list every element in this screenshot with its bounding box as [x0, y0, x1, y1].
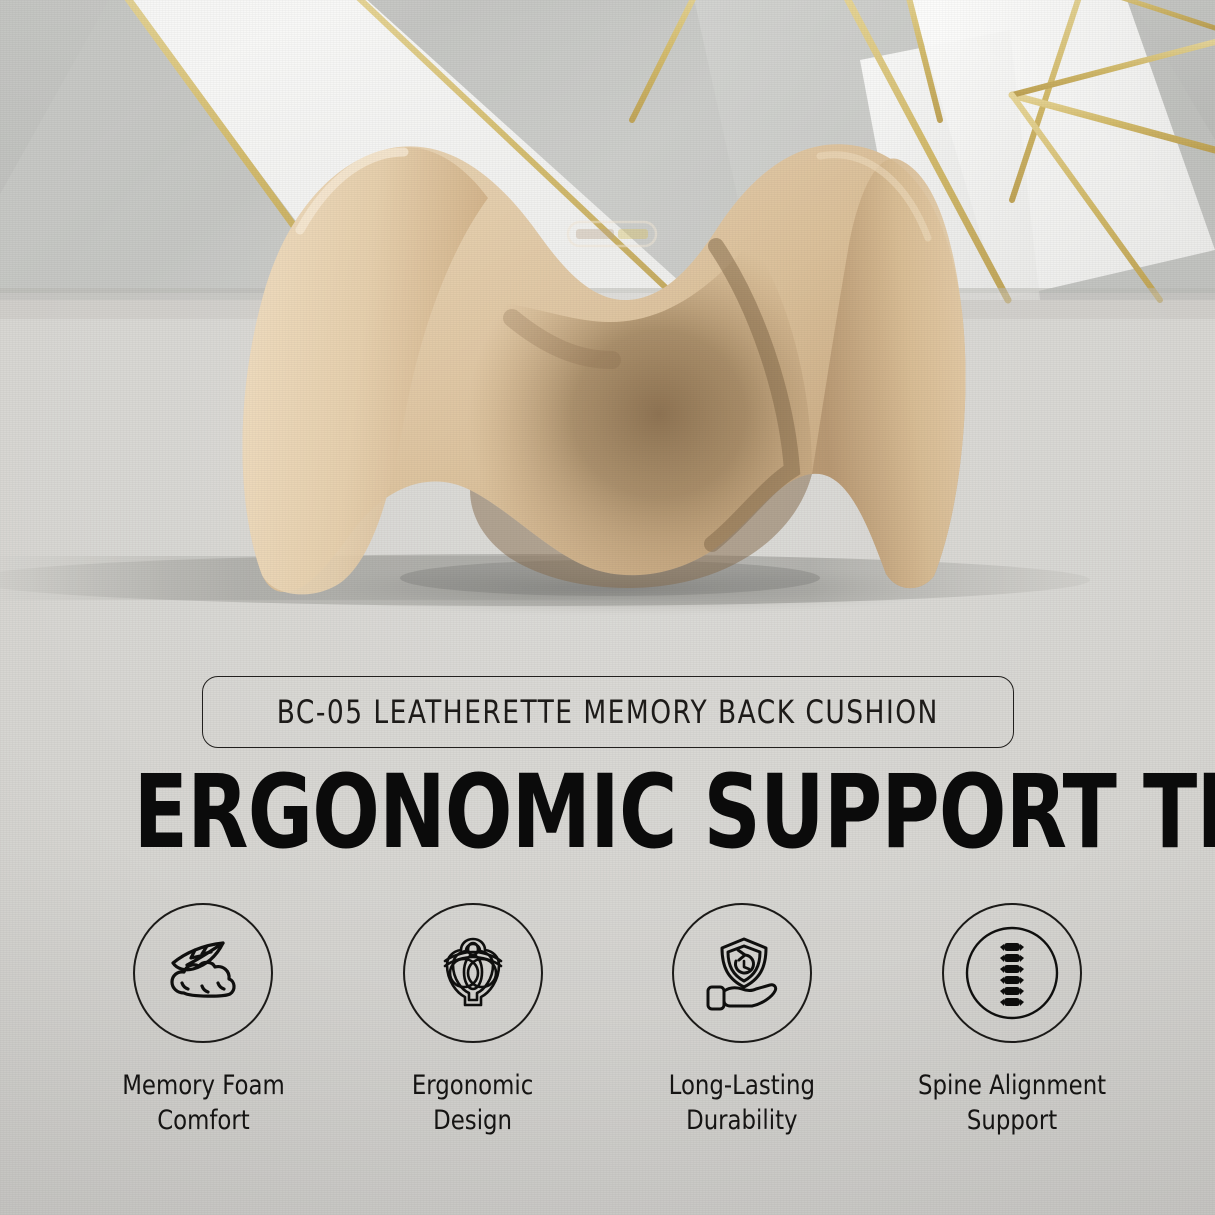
feature-label: Spine Alignment Support	[918, 1069, 1106, 1138]
feature-label: Ergonomic Design	[412, 1069, 533, 1138]
page-headline: ERGONOMIC SUPPORT THAT ADAPTS	[134, 762, 1082, 864]
feature-icon-ring	[942, 903, 1082, 1043]
feature-item-memory-foam-comfort: Memory Foam Comfort	[70, 903, 336, 1138]
feature-list: Memory Foam Comfort	[70, 903, 1145, 1138]
feature-item-ergonomic-design: Ergonomic Design	[340, 903, 606, 1138]
feature-label: Long-Lasting Durability	[669, 1069, 815, 1138]
feature-item-spine-alignment-support: Spine Alignment Support	[879, 903, 1145, 1138]
product-name-badge-label: BC-05 LEATHERETTE MEMORY BACK CUSHION	[277, 693, 939, 731]
hand-shield-clock-icon	[694, 925, 790, 1021]
ergonomic-body-icon	[425, 925, 521, 1021]
feature-item-long-lasting-durability: Long-Lasting Durability	[609, 903, 875, 1138]
product-marketing-poster: BC-05 LEATHERETTE MEMORY BACK CUSHION ER…	[0, 0, 1215, 1215]
feature-icon-ring	[403, 903, 543, 1043]
spine-vertebrae-icon	[953, 914, 1071, 1032]
feature-icon-ring	[133, 903, 273, 1043]
feature-icon-ring	[672, 903, 812, 1043]
product-name-badge: BC-05 LEATHERETTE MEMORY BACK CUSHION	[202, 676, 1014, 748]
vertebrae-stack	[1000, 943, 1024, 1006]
feather-cloud-icon	[155, 925, 251, 1021]
feature-label: Memory Foam Comfort	[122, 1069, 285, 1138]
